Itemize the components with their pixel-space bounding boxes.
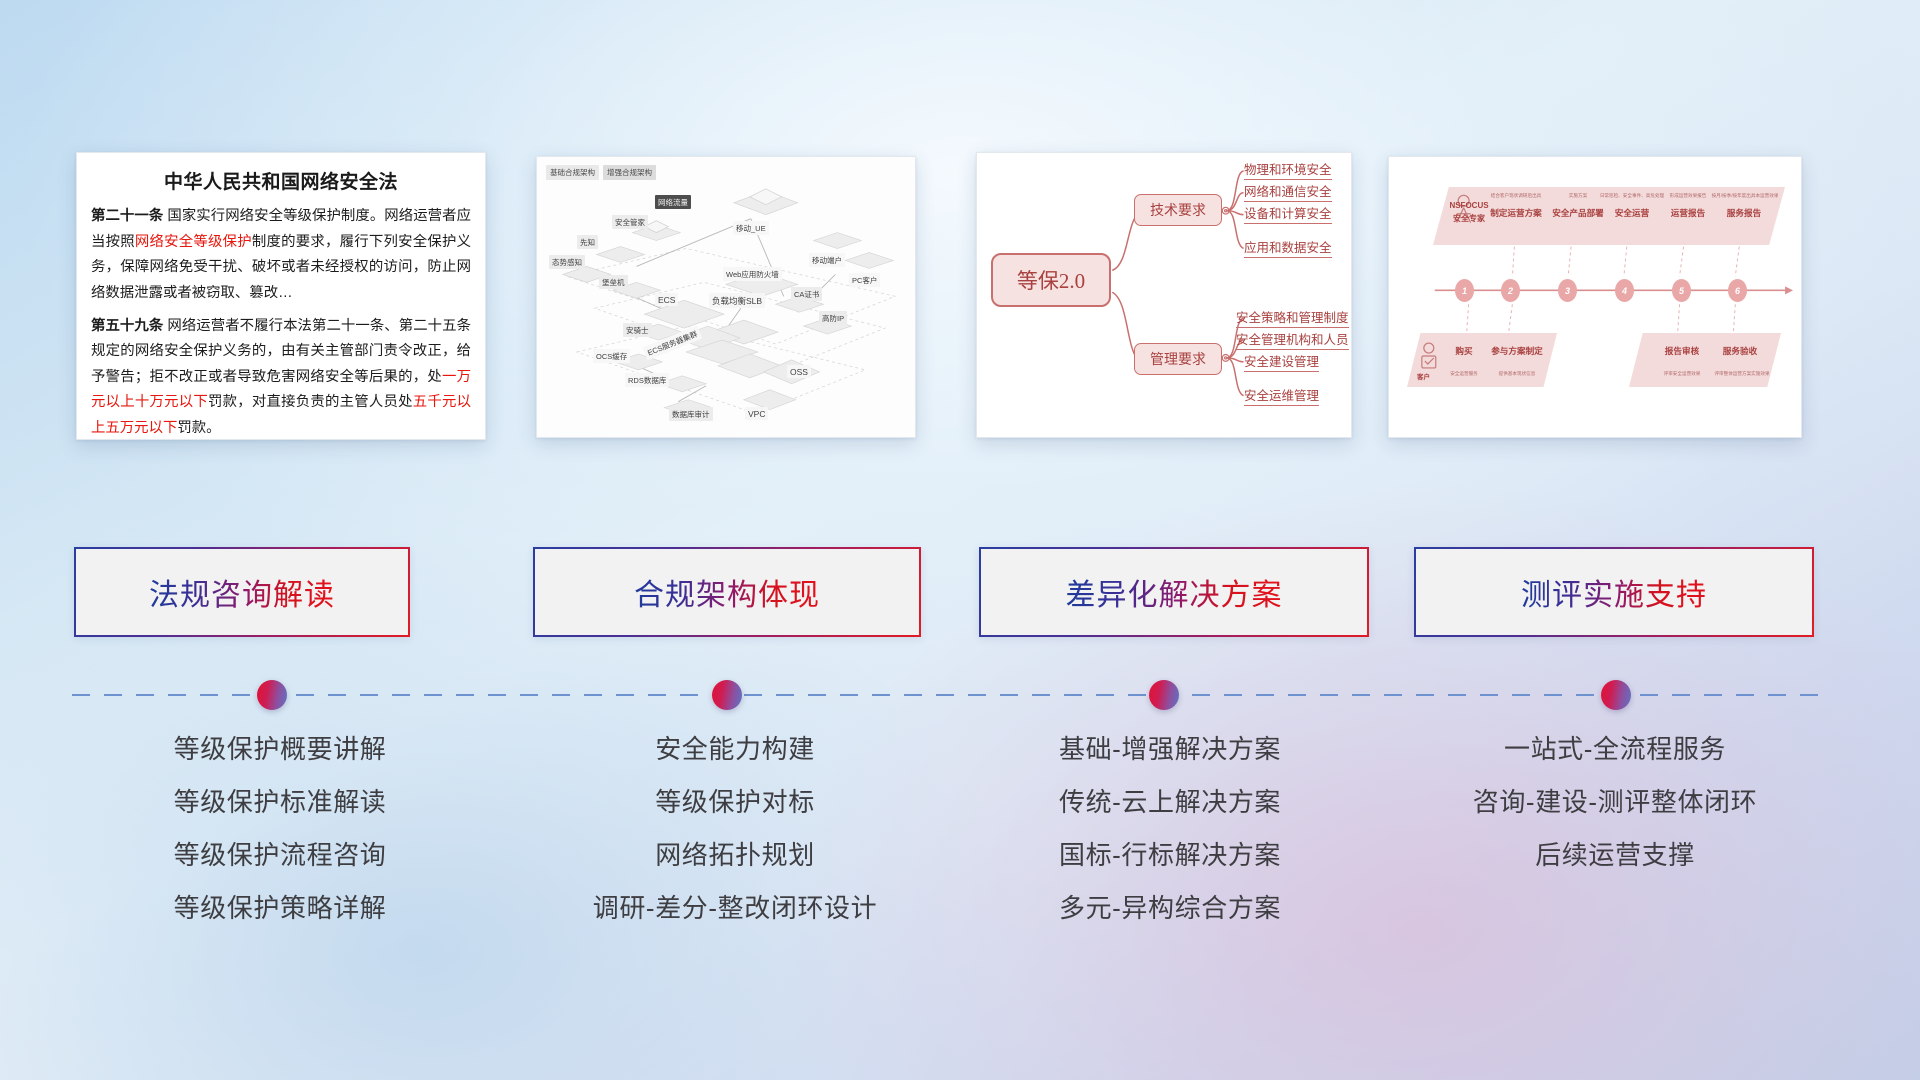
headline-label: 法规咨询解读 <box>149 570 335 614</box>
detail-item: 等级保护概要讲解 <box>60 736 500 762</box>
law-article-number: 第五十九条 <box>91 318 163 334</box>
card-nsfocus-timeline[interactable]: NSFOCUS 安全专家 结合客户现状调研后出具 制定运营方案 实施方案 安全产… <box>1388 156 1802 438</box>
timeline-step-number[interactable]: 3 <box>1558 279 1577 302</box>
law-paragraph: 第五十九条 网络运营者不履行本法第二十一条、第二十五条规定的网络安全保护义务的，… <box>91 314 471 440</box>
timeline-knob-4[interactable] <box>1601 680 1631 710</box>
mindmap-branch-management[interactable]: 管理要求 <box>1134 343 1222 375</box>
nsfocus-bottom-step-sub: 提供基本现状信息 <box>1481 371 1553 377</box>
arch-node-slb: 负载均衡SLB <box>709 293 765 308</box>
timeline-step-number[interactable]: 4 <box>1615 279 1634 302</box>
mindmap-leaf: 安全建设管理 <box>1244 351 1319 372</box>
card-cloud-architecture[interactable]: 基础合规架构 增强合规架构 <box>536 156 916 438</box>
thumbnail-card-row: 中华人民共和国网络安全法 第二十一条 国家实行网络安全等级保护制度。网络运营者应… <box>0 150 1920 442</box>
detail-item: 网络拓扑规划 <box>515 842 955 868</box>
detail-item: 等级保护标准解读 <box>60 789 500 815</box>
headline-box-assessment-support[interactable]: 测评实施支持 <box>1414 547 1814 637</box>
customer-label: 客户 <box>1417 371 1430 381</box>
arch-node-mobile-ue: 移动_UE <box>733 221 769 235</box>
arch-node-security-butler: 安全管家 <box>612 215 648 229</box>
arch-node-ocs-cache: OCS缓存 <box>593 349 630 363</box>
arch-node-xianzhi: 先知 <box>577 235 598 249</box>
detail-item: 后续运营支撑 <box>1395 842 1835 868</box>
headline-box-differentiated-solution[interactable]: 差异化解决方案 <box>979 547 1369 637</box>
headline-label: 测评实施支持 <box>1521 570 1707 614</box>
nsfocus-bottom-step-main: 报告审核 <box>1651 345 1713 357</box>
mindmap-leaf: 安全管理机构和人员 <box>1236 329 1349 350</box>
mindmap-leaf: 设备和计算安全 <box>1244 203 1332 224</box>
timeline-step-number[interactable]: 5 <box>1672 279 1691 302</box>
nsfocus-bottom-step-main: 服务验收 <box>1709 345 1771 357</box>
mindmap: 等保2.0 技术要求 管理要求 物理和环境安全 网络和通信安全 设备和计算安全 … <box>977 153 1351 437</box>
arch-node-rds-database: RDS数据库 <box>625 373 669 387</box>
headline-box-row: 法规咨询解读 合规架构体现 差异化解决方案 测评实施支持 <box>0 547 1920 643</box>
mindmap-leaf: 网络和通信安全 <box>1244 181 1332 202</box>
nsfocus-bottom-step-main: 参与方案制定 <box>1481 345 1553 357</box>
mindmap-root-node[interactable]: 等保2.0 <box>991 253 1111 307</box>
detail-item: 咨询-建设-测评整体闭环 <box>1395 789 1835 815</box>
detail-item: 调研-差分-整改闭环设计 <box>515 895 955 921</box>
architecture-diagram: 基础合规架构 增强合规架构 <box>537 157 915 437</box>
arch-node-ca-certificate: CA证书 <box>791 287 822 301</box>
arch-node-bastion-host: 堡垒机 <box>599 275 628 289</box>
nsfocus-top-step-main: 服务报告 <box>1705 207 1783 219</box>
detail-item: 多元-异构综合方案 <box>950 895 1390 921</box>
detail-item: 等级保护流程咨询 <box>60 842 500 868</box>
timeline-knob-2[interactable] <box>712 680 742 710</box>
headline-box-compliance-architecture[interactable]: 合规架构体现 <box>533 547 921 637</box>
arch-node-waf: Web应用防火墙 <box>723 267 782 281</box>
arch-node-mobile-client: 移动端户 <box>809 253 845 267</box>
detail-column-regulation: 等级保护概要讲解 等级保护标准解读 等级保护流程咨询 等级保护策略详解 <box>60 736 500 948</box>
detail-item: 一站式-全流程服务 <box>1395 736 1835 762</box>
timeline-step-number[interactable]: 1 <box>1455 279 1474 302</box>
mindmap-leaf: 安全运维管理 <box>1244 385 1319 406</box>
nsfocus-top-step-sub: 按月/按季/按年度出具本运营效果 <box>1699 193 1791 199</box>
timeline-rail <box>72 694 1824 696</box>
law-paragraph: 第二十一条 国家实行网络安全等级保护制度。网络运营者应当按照网络安全等级保护制度… <box>91 204 471 307</box>
nsfocus-process-diagram: NSFOCUS 安全专家 结合客户现状调研后出具 制定运营方案 实施方案 安全产… <box>1389 157 1801 437</box>
law-title: 中华人民共和国网络安全法 <box>77 153 485 204</box>
headline-label: 差异化解决方案 <box>1066 570 1283 614</box>
arch-node-pc-client: PC客户 <box>849 273 880 287</box>
arch-node-anqishi: 安骑士 <box>623 323 652 337</box>
detail-item: 传统-云上解决方案 <box>950 789 1390 815</box>
detail-item: 国标-行标解决方案 <box>950 842 1390 868</box>
detail-item: 安全能力构建 <box>515 736 955 762</box>
law-text: 罚款。 <box>177 420 220 436</box>
timeline-step-number[interactable]: 6 <box>1728 279 1747 302</box>
detail-column-architecture: 安全能力构建 等级保护对标 网络拓扑规划 调研-差分-整改闭环设计 <box>515 736 955 948</box>
timeline-knob-3[interactable] <box>1149 680 1179 710</box>
law-text: 罚款，对直接负责的主管人员处 <box>208 394 413 410</box>
mindmap-leaf: 安全策略和管理制度 <box>1236 307 1349 328</box>
law-text-highlight: 网络安全等级保护 <box>135 234 252 250</box>
card-mindmap-dengbao[interactable]: 等保2.0 技术要求 管理要求 物理和环境安全 网络和通信安全 设备和计算安全 … <box>976 152 1352 438</box>
detail-item: 等级保护策略详解 <box>60 895 500 921</box>
arch-node-network-traffic: 网络流量 <box>655 195 691 209</box>
detail-column-solution: 基础-增强解决方案 传统-云上解决方案 国标-行标解决方案 多元-异构综合方案 <box>950 736 1390 948</box>
mindmap-leaf: 物理和环境安全 <box>1244 159 1332 180</box>
headline-label: 合规架构体现 <box>634 570 820 614</box>
arch-node-ecs: ECS <box>655 293 678 306</box>
detail-column-assessment: 一站式-全流程服务 咨询-建设-测评整体闭环 后续运营支撑 <box>1395 736 1835 895</box>
law-body: 第二十一条 国家实行网络安全等级保护制度。网络运营者应当按照网络安全等级保护制度… <box>77 204 485 440</box>
arch-node-vpc: VPC <box>745 407 768 420</box>
mindmap-branch-technical[interactable]: 技术要求 <box>1134 194 1222 226</box>
detail-item: 基础-增强解决方案 <box>950 736 1390 762</box>
detail-item: 等级保护对标 <box>515 789 955 815</box>
mindmap-leaf: 应用和数据安全 <box>1244 237 1332 258</box>
arch-node-oss: OSS <box>787 365 811 378</box>
timeline-step-number[interactable]: 2 <box>1501 279 1520 302</box>
arch-node-situational-awareness: 态势感知 <box>549 255 585 269</box>
timeline-knob-1[interactable] <box>257 680 287 710</box>
card-cybersecurity-law[interactable]: 中华人民共和国网络安全法 第二十一条 国家实行网络安全等级保护制度。网络运营者应… <box>76 152 486 440</box>
arch-node-db-audit: 数据库审计 <box>669 407 713 421</box>
headline-box-regulation-consulting[interactable]: 法规咨询解读 <box>74 547 410 637</box>
arch-node-anti-ddos-ip: 高防IP <box>819 311 847 325</box>
law-article-number: 第二十一条 <box>91 208 163 224</box>
nsfocus-bottom-step-sub: 评审整体运营方案实施效果 <box>1703 371 1781 377</box>
